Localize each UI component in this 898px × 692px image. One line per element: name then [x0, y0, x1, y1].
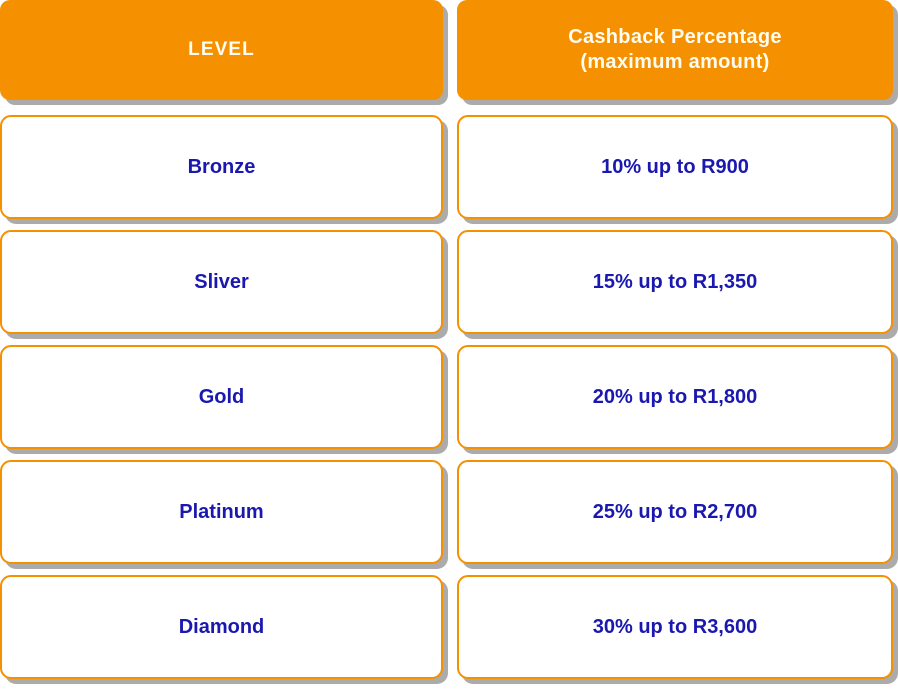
row-4-level-value: Diamond	[179, 615, 265, 639]
row-4-level-wrap: Diamond	[0, 575, 449, 690]
row-2-cashback-value: 20% up to R1,800	[593, 385, 758, 409]
row-3-level-cell: Platinum	[0, 460, 443, 564]
row-3-level-value: Platinum	[179, 500, 263, 524]
header-body-spacer	[0, 103, 898, 115]
row-4-level-cell: Diamond	[0, 575, 443, 679]
row-0-level-cell: Bronze	[0, 115, 443, 219]
table-header-row: LEVEL Cashback Percentage (maximum amoun…	[0, 0, 898, 103]
row-0-level-value: Bronze	[188, 155, 256, 179]
row-1-cashback-cell: 15% up to R1,350	[457, 230, 893, 334]
row-1-level-wrap: Sliver	[0, 230, 449, 345]
row-3-level-wrap: Platinum	[0, 460, 449, 575]
row-1-cashback-value: 15% up to R1,350	[593, 270, 758, 294]
header-cell-cashback: Cashback Percentage (maximum amount)	[457, 0, 893, 100]
header-cell-level-wrap: LEVEL	[0, 0, 449, 103]
row-3-cashback-cell: 25% up to R2,700	[457, 460, 893, 564]
table-row: Sliver 15% up to R1,350	[0, 230, 898, 345]
row-0-cashback-cell: 10% up to R900	[457, 115, 893, 219]
row-2-level-wrap: Gold	[0, 345, 449, 460]
row-1-level-value: Sliver	[194, 270, 248, 294]
header-label-level: LEVEL	[188, 38, 255, 62]
header-cell-cashback-wrap: Cashback Percentage (maximum amount)	[449, 0, 898, 103]
table-row: Gold 20% up to R1,800	[0, 345, 898, 460]
row-2-cashback-cell: 20% up to R1,800	[457, 345, 893, 449]
row-0-level-wrap: Bronze	[0, 115, 449, 230]
header-cell-level: LEVEL	[0, 0, 443, 100]
row-2-level-value: Gold	[199, 385, 245, 409]
table-row: Bronze 10% up to R900	[0, 115, 898, 230]
row-4-cashback-wrap: 30% up to R3,600	[449, 575, 898, 690]
row-3-cashback-value: 25% up to R2,700	[593, 500, 758, 524]
table-row: Diamond 30% up to R3,600	[0, 575, 898, 690]
row-2-cashback-wrap: 20% up to R1,800	[449, 345, 898, 460]
row-1-cashback-wrap: 15% up to R1,350	[449, 230, 898, 345]
row-4-cashback-value: 30% up to R3,600	[593, 615, 758, 639]
header-label-cashback-line1: Cashback Percentage	[568, 25, 782, 50]
row-4-cashback-cell: 30% up to R3,600	[457, 575, 893, 679]
row-1-level-cell: Sliver	[0, 230, 443, 334]
row-0-cashback-wrap: 10% up to R900	[449, 115, 898, 230]
header-label-cashback-line2: (maximum amount)	[568, 50, 782, 75]
row-2-level-cell: Gold	[0, 345, 443, 449]
cashback-levels-table: LEVEL Cashback Percentage (maximum amoun…	[0, 0, 898, 692]
header-label-cashback: Cashback Percentage (maximum amount)	[568, 25, 782, 75]
row-0-cashback-value: 10% up to R900	[601, 155, 749, 179]
table-row: Platinum 25% up to R2,700	[0, 460, 898, 575]
row-3-cashback-wrap: 25% up to R2,700	[449, 460, 898, 575]
